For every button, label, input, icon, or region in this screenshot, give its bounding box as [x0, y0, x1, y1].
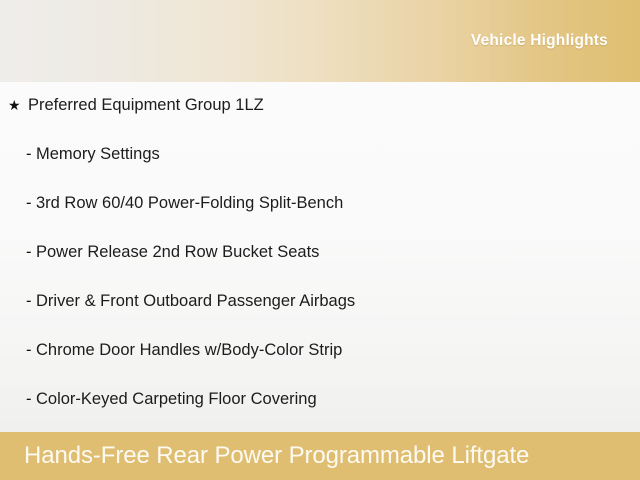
dash-bullet-icon: - [26, 341, 36, 360]
list-item: -Memory Settings [0, 145, 640, 194]
list-item: -Driver & Front Outboard Passenger Airba… [0, 292, 640, 341]
vehicle-highlights-slide: Vehicle Highlights ★Preferred Equipment … [0, 0, 640, 480]
dash-bullet-icon: - [26, 292, 36, 311]
list-item-label: Memory Settings [36, 145, 160, 164]
dash-bullet-icon: - [26, 390, 36, 409]
list-item-label: Driver & Front Outboard Passenger Airbag… [36, 292, 355, 311]
highlights-content: ★Preferred Equipment Group 1LZ-Memory Se… [0, 82, 640, 432]
star-icon: ★ [8, 96, 28, 115]
list-item-label: Preferred Equipment Group 1LZ [28, 96, 264, 115]
dash-bullet-icon: - [26, 145, 36, 164]
highlights-list: ★Preferred Equipment Group 1LZ-Memory Se… [0, 96, 640, 439]
footer-caption-banner: Hands-Free Rear Power Programmable Liftg… [0, 432, 640, 480]
dash-bullet-icon: - [26, 194, 36, 213]
dash-bullet-icon: - [26, 243, 36, 262]
list-item-label: Color-Keyed Carpeting Floor Covering [36, 390, 317, 409]
header-banner: Vehicle Highlights [0, 0, 640, 82]
list-item: -Chrome Door Handles w/Body-Color Strip [0, 341, 640, 390]
list-item-label: Power Release 2nd Row Bucket Seats [36, 243, 319, 262]
list-item: -3rd Row 60/40 Power-Folding Split-Bench [0, 194, 640, 243]
list-item: -Color-Keyed Carpeting Floor Covering [0, 390, 640, 439]
footer-caption: Hands-Free Rear Power Programmable Liftg… [24, 442, 529, 470]
list-item-label: Chrome Door Handles w/Body-Color Strip [36, 341, 342, 360]
list-item: -Power Release 2nd Row Bucket Seats [0, 243, 640, 292]
page-title: Vehicle Highlights [471, 33, 608, 49]
list-item: ★Preferred Equipment Group 1LZ [0, 96, 640, 145]
list-item-label: 3rd Row 60/40 Power-Folding Split-Bench [36, 194, 343, 213]
